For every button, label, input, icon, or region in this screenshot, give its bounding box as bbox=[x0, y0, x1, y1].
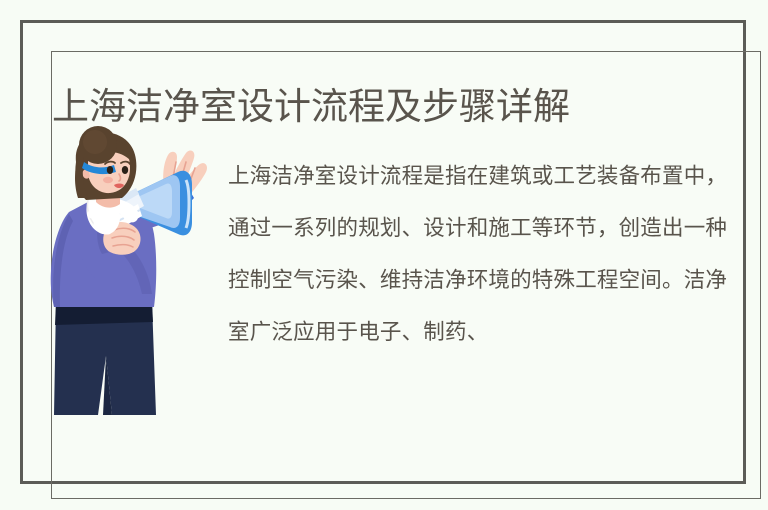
page-title: 上海洁净室设计流程及步骤详解 bbox=[52, 82, 712, 132]
article-body-text: 上海洁净室设计流程是指在建筑或工艺装备布置中，通过一系列的规划、设计和施工等环节… bbox=[228, 150, 740, 358]
page-root: 上海洁净室设计流程及步骤详解 bbox=[0, 0, 768, 510]
illustration-woman-with-megaphone bbox=[40, 126, 210, 418]
pants-shape bbox=[54, 302, 156, 415]
head-shape bbox=[75, 126, 136, 200]
